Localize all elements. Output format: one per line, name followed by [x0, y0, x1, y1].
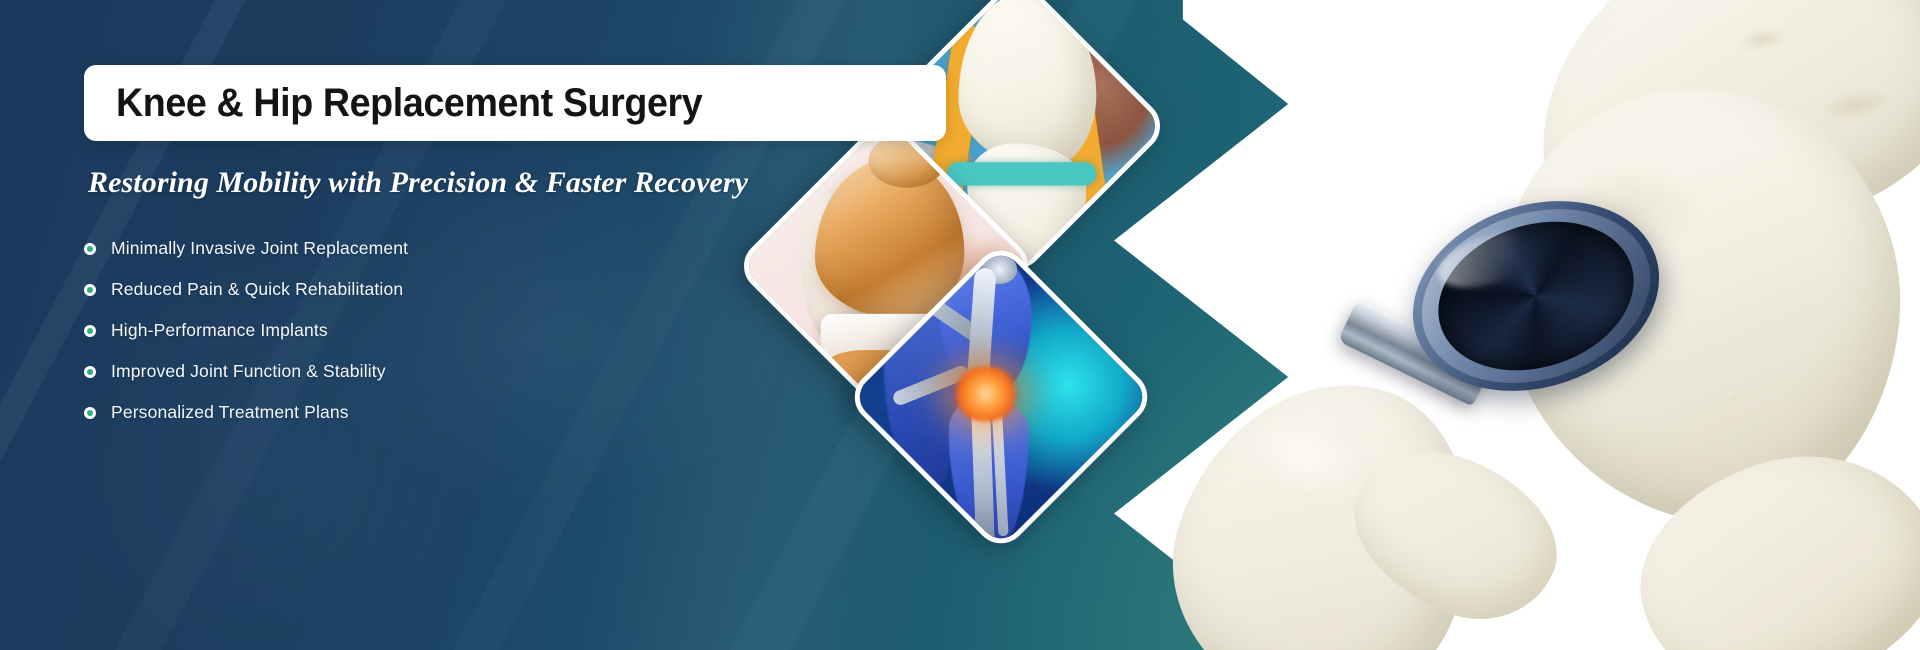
feature-label: Reduced Pain & Quick Rehabilitation [111, 279, 403, 300]
bullet-dot-icon [84, 407, 96, 419]
feature-label: Improved Joint Function & Stability [111, 361, 386, 382]
page-title: Knee & Hip Replacement Surgery [116, 81, 702, 126]
list-item: Reduced Pain & Quick Rehabilitation [84, 269, 408, 310]
feature-label: High-Performance Implants [111, 320, 328, 341]
bullet-dot-icon [84, 366, 96, 378]
feature-label: Minimally Invasive Joint Replacement [111, 238, 408, 259]
banner-content: Knee & Hip Replacement Surgery Restoring… [0, 0, 960, 650]
knee-hip-replacement-banner: Knee & Hip Replacement Surgery Restoring… [0, 0, 1920, 650]
page-subtitle: Restoring Mobility with Precision & Fast… [88, 166, 748, 200]
bullet-dot-icon [84, 325, 96, 337]
hip-replacement-image [1160, 0, 1920, 650]
bullet-dot-icon [84, 243, 96, 255]
feature-label: Personalized Treatment Plans [111, 402, 349, 423]
list-item: Personalized Treatment Plans [84, 392, 408, 433]
list-item: Improved Joint Function & Stability [84, 351, 408, 392]
knee-pain-glow [952, 366, 1020, 421]
feature-list: Minimally Invasive Joint Replacement Red… [84, 228, 408, 433]
list-item: Minimally Invasive Joint Replacement [84, 228, 408, 269]
meniscus-band [946, 162, 1095, 186]
list-item: High-Performance Implants [84, 310, 408, 351]
title-pill: Knee & Hip Replacement Surgery [84, 65, 946, 141]
bullet-dot-icon [84, 284, 96, 296]
